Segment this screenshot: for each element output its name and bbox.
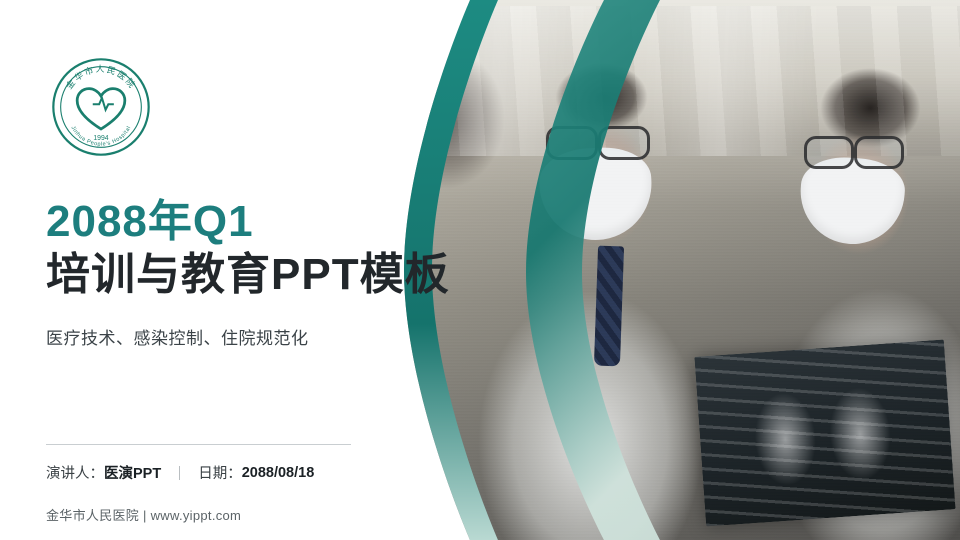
speaker-value: 医演PPT	[104, 462, 161, 483]
slide-left-panel: 金华市人民医院 Jinhua People's Hospital 1994 20…	[0, 0, 470, 540]
meta-separator	[179, 466, 180, 480]
date-value: 2088/08/18	[242, 465, 315, 481]
presenter-meta: 演讲人： 医演PPT 日期： 2088/08/18	[46, 462, 314, 483]
slide-title-line-1: 2088年Q1	[46, 196, 466, 247]
slide-title-line-2: 培训与教育PPT模板	[46, 249, 466, 300]
speaker-label: 演讲人：	[46, 462, 104, 483]
divider-line	[46, 444, 351, 445]
hospital-logo: 金华市人民医院 Jinhua People's Hospital 1994	[46, 52, 156, 162]
slide-footer: 金华市人民医院 | www.yippt.com	[46, 505, 241, 524]
slide-subtitle: 医疗技术、感染控制、住院规范化	[46, 324, 466, 349]
photo-grain-overlay	[400, 0, 960, 540]
logo-year-text: 1994	[93, 135, 108, 142]
title-block: 2088年Q1 培训与教育PPT模板 医疗技术、感染控制、住院规范化	[46, 196, 466, 349]
hero-photo	[400, 0, 960, 540]
date-label: 日期：	[198, 462, 242, 483]
presentation-slide: 金华市人民医院 Jinhua People's Hospital 1994 20…	[0, 0, 960, 540]
